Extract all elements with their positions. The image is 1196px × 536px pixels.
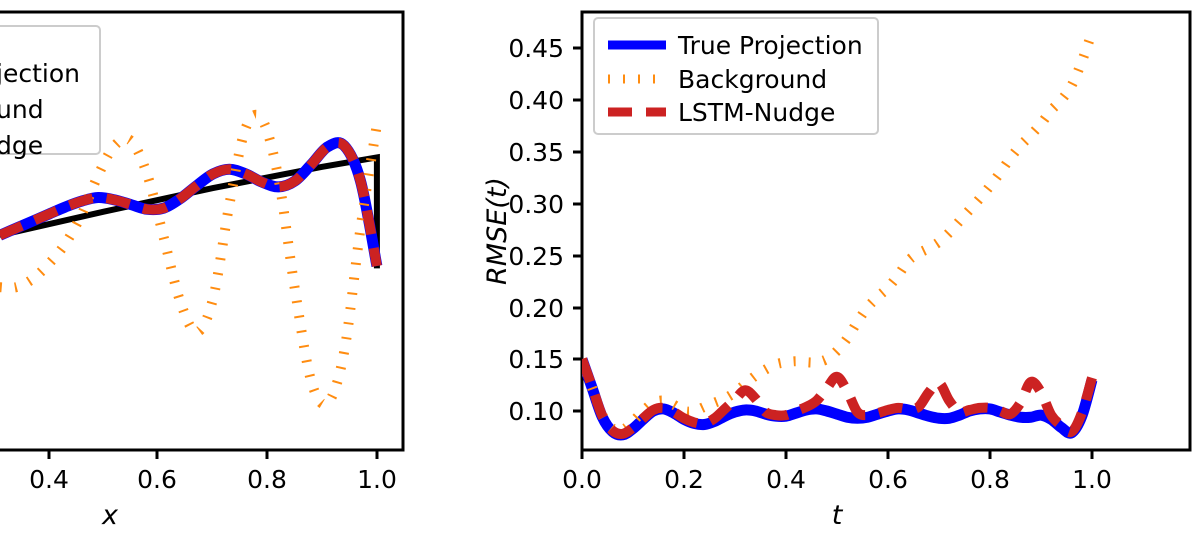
right-ytick-0.20: 0.20 [508, 294, 564, 323]
left-chart-panel: 0.4 0.6 0.8 1.0 x jection und dge [0, 0, 470, 536]
right-xtick-3: 0.6 [868, 465, 908, 494]
right-ytick-0.10: 0.10 [508, 397, 564, 426]
left-x-ticklabels: 0.4 0.6 0.8 1.0 [29, 465, 397, 494]
left-xtick-1: 0.6 [137, 465, 177, 494]
right-xtick-2: 0.4 [766, 465, 806, 494]
left-xtick-2: 0.8 [247, 465, 287, 494]
left-series-group [0, 115, 377, 405]
right-ytick-0.25: 0.25 [508, 242, 564, 271]
left-xtick-0: 0.4 [29, 465, 69, 494]
legend-label-lstm-nudge: LSTM-Nudge [678, 98, 835, 127]
right-x-ticklabels: 0.0 0.2 0.4 0.6 0.8 1.0 [562, 465, 1112, 494]
right-series-lstm-nudge [582, 359, 1092, 434]
right-ytick-0.45: 0.45 [508, 34, 564, 63]
left-legend: jection und dge [0, 26, 100, 160]
right-series-true-projection [582, 359, 1092, 435]
right-xtick-0: 0.0 [562, 465, 602, 494]
right-y-ticklabels: 0.45 0.40 0.35 0.30 0.25 0.20 0.15 0.10 [508, 34, 564, 426]
right-ytick-0.15: 0.15 [508, 345, 564, 374]
right-ytick-0.30: 0.30 [508, 190, 564, 219]
left-legend-label-true-projection: jection [0, 59, 80, 88]
right-ytick-0.35: 0.35 [508, 138, 564, 167]
right-y-axis-label: RMSE(t) [482, 177, 513, 285]
right-chart-panel: 0.45 0.40 0.35 0.30 0.25 0.20 0.15 0.10 … [480, 0, 1196, 536]
legend-label-true-projection: True Projection [677, 31, 863, 60]
left-legend-label-lstm-nudge: dge [0, 131, 43, 160]
right-legend: True Projection Background LSTM-Nudge [594, 18, 878, 134]
right-xtick-4: 0.8 [970, 465, 1010, 494]
right-ytick-0.40: 0.40 [508, 86, 564, 115]
left-xtick-3: 1.0 [357, 465, 397, 494]
right-x-axis-label: t [832, 500, 844, 531]
left-legend-label-background: und [0, 95, 44, 124]
right-xtick-1: 0.2 [664, 465, 704, 494]
legend-label-background: Background [678, 65, 827, 94]
figure-root: 0.4 0.6 0.8 1.0 x jection und dge [0, 0, 1196, 536]
left-x-axis-label: x [101, 500, 119, 531]
right-xtick-5: 1.0 [1072, 465, 1112, 494]
